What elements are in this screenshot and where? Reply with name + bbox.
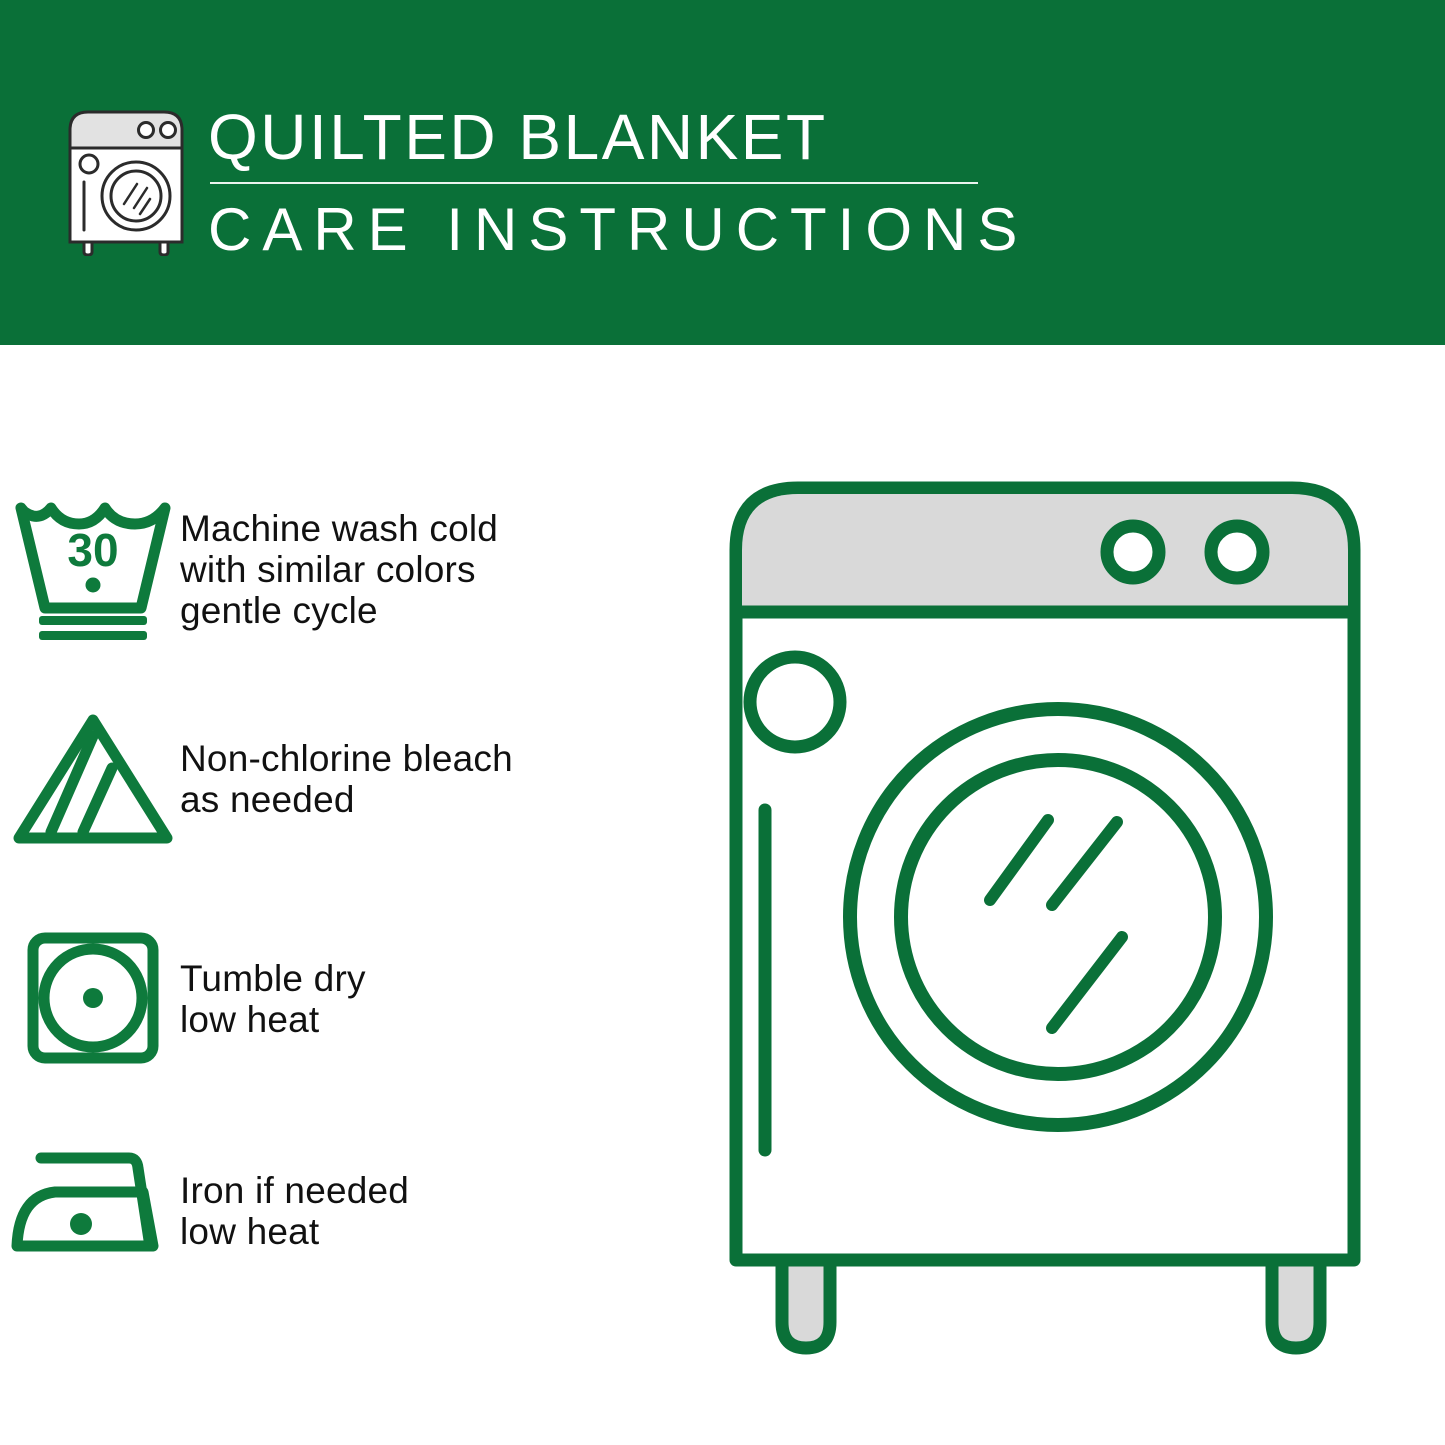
bleach-triangle-icon (0, 710, 180, 850)
tumble-dry-icon (0, 930, 180, 1070)
instruction-text-wash: Machine wash cold with similar colors ge… (180, 490, 498, 631)
instruction-text-tumble-dry: Tumble dry low heat (180, 930, 366, 1040)
front-load-washing-machine-illustration (700, 450, 1420, 1370)
knob-left (1107, 526, 1159, 578)
knob-right (1211, 526, 1263, 578)
instruction-row-iron: Iron if needed low heat (0, 1140, 700, 1270)
instruction-text-bleach: Non-chlorine bleach as needed (180, 710, 513, 820)
page-title: QUILTED BLANKET (208, 100, 988, 174)
washing-machine-icon (62, 104, 190, 256)
wash-tub-30-icon: 30 (0, 490, 180, 640)
header-band: QUILTED BLANKET CARE INSTRUCTIONS (0, 0, 1445, 345)
title-divider (210, 182, 978, 184)
instruction-row-tumble-dry: Tumble dry low heat (0, 930, 700, 1070)
instruction-list: 30 Machine wash cold with similar colors… (0, 345, 700, 1445)
header-titles: QUILTED BLANKET CARE INSTRUCTIONS (208, 100, 988, 264)
instruction-text-iron: Iron if needed low heat (180, 1140, 409, 1252)
detergent-indicator (750, 657, 840, 747)
iron-icon (0, 1140, 180, 1270)
page-subtitle: CARE INSTRUCTIONS (208, 196, 988, 264)
leg-right (1272, 1260, 1320, 1348)
care-instructions-page: QUILTED BLANKET CARE INSTRUCTIONS 30 (0, 0, 1445, 1445)
wash-temperature-label: 30 (67, 524, 118, 576)
leg-left (782, 1260, 830, 1348)
instruction-row-bleach: Non-chlorine bleach as needed (0, 710, 700, 850)
instruction-row-wash: 30 Machine wash cold with similar colors… (0, 490, 700, 640)
